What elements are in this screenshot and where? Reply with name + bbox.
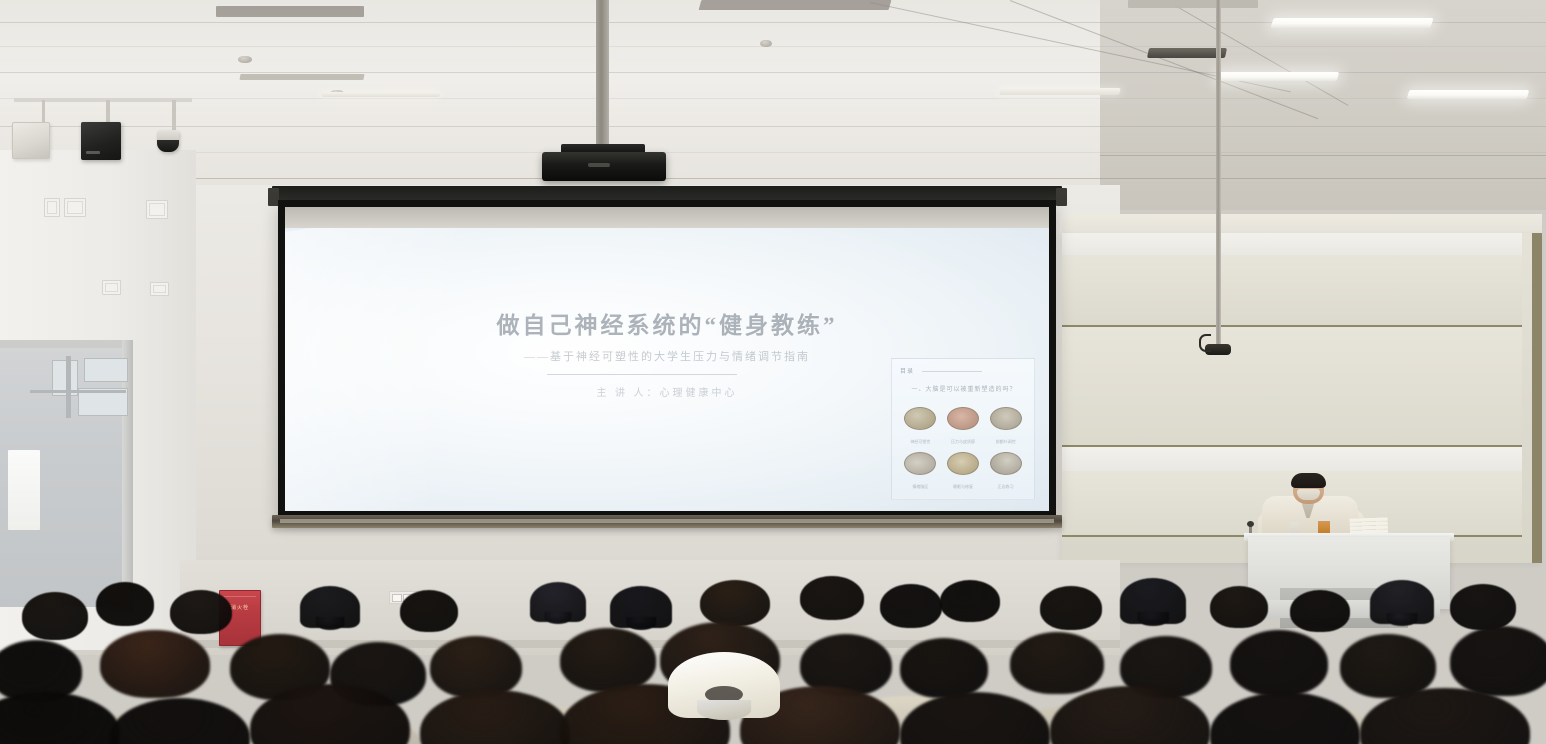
figure-caption: 情绪脑区 [900, 484, 941, 490]
ceiling-air-vent [699, 0, 892, 10]
window-mullion [30, 390, 126, 393]
audience-member-head [1040, 586, 1102, 630]
figure-cell: 神经可塑性 [900, 403, 941, 446]
slide-figure-panel: 目录 一、大脑是可以被重新塑造的吗？ 神经可塑性 压力与皮质醇 前额叶调控 [891, 358, 1035, 500]
audience-member-head [1450, 626, 1546, 696]
slide-panel-heading: 目录 [900, 366, 914, 375]
figure-cell: 前额叶调控 [985, 403, 1026, 446]
ceiling-light [1217, 72, 1340, 81]
audience-member-head [700, 580, 770, 626]
audience-member-head [800, 576, 864, 620]
ceiling-grid-line [1100, 155, 1546, 156]
speaker-mount-arm [106, 100, 110, 124]
brain-figure-icon [990, 407, 1022, 430]
brain-figure-icon [904, 452, 936, 475]
wall-switch-plate [44, 198, 60, 217]
audience-member-cap [530, 582, 586, 622]
figure-cell: 压力与皮质醇 [943, 403, 984, 446]
audience-member-head [22, 592, 88, 640]
audience-member-head [170, 590, 232, 634]
camera-mount-arm [172, 100, 176, 132]
window-mullion [66, 356, 71, 418]
lecture-hall-photo: 做自己神经系统的“健身教练” ——基于神经可塑性的大学生压力与情绪调节指南 主 … [0, 0, 1546, 744]
projection-screen-top-band [285, 207, 1049, 229]
audience-member-head [100, 630, 210, 698]
brain-figure-icon [990, 452, 1022, 475]
audience-seating [0, 556, 1546, 744]
ceiling-slot-vent [1128, 0, 1258, 8]
screen-bracket [1056, 188, 1067, 206]
figure-caption: 睡眠与修复 [943, 484, 984, 490]
audience-member-head [900, 638, 988, 698]
audience-member-head [940, 580, 1000, 622]
smoke-detector-icon [760, 40, 772, 47]
white-baseball-cap [668, 652, 780, 718]
smoke-detector-icon [238, 56, 252, 63]
ceiling-light [1270, 18, 1433, 28]
brain-figure-icon [947, 407, 979, 430]
audience-member-head [420, 690, 570, 744]
audience-member-cap [300, 586, 360, 628]
brain-figure-icon [947, 452, 979, 475]
ceiling-wall-junction [0, 178, 1546, 179]
slide-title: 做自己神经系统的“健身教练” [285, 306, 1049, 340]
projection-screen-surface[interactable]: 做自己神经系统的“健身教练” ——基于神经可塑性的大学生压力与情绪调节指南 主 … [285, 228, 1049, 511]
ceiling-plank-seam [0, 46, 1546, 47]
ceiling-slot-vent [239, 74, 364, 80]
ceiling-plank-seam [0, 98, 1546, 99]
audience-member-head [1210, 586, 1268, 628]
wall-socket-plate [150, 282, 169, 296]
figure-cell: 正念练习 [985, 448, 1026, 491]
audience-member-cap [610, 586, 672, 628]
panel-wall-gap [1062, 447, 1522, 471]
audience-member-head [430, 636, 522, 698]
wall-light-reflection [8, 450, 40, 530]
speaker-mount-arm [42, 100, 45, 124]
audience-member-cap [1370, 580, 1434, 624]
ceiling-light [322, 92, 441, 97]
wall-speaker-black [81, 122, 121, 160]
projector-mount-pole [596, 0, 609, 150]
audience-member-cap [1120, 578, 1186, 624]
ceiling-plank-seam [0, 152, 1546, 153]
panel-wall-band [1062, 327, 1522, 447]
wall-socket-plate [102, 280, 121, 295]
cap-adjuster-hole [705, 686, 743, 703]
audience-member-head [96, 582, 154, 626]
audience-member-head [110, 698, 250, 744]
lecturer-hair [1291, 473, 1326, 488]
panel-wall-gap [1062, 233, 1522, 255]
audience-member-head [1450, 584, 1516, 630]
screen-glare [285, 228, 567, 511]
face-mask-icon [1297, 489, 1320, 500]
slide-divider [547, 374, 737, 375]
slide-panel-rule [922, 371, 982, 372]
audience-member-head [0, 692, 120, 744]
drink-cup-lid [1317, 517, 1331, 521]
panel-wall-band [1062, 255, 1522, 327]
projection-screen-weight-bar [272, 515, 1062, 528]
figure-caption: 压力与皮质醇 [943, 439, 984, 445]
wall-switch-plate [64, 198, 86, 217]
security-camera-icon [157, 130, 179, 152]
transom-window-pane [84, 358, 128, 382]
audience-member-head [1010, 632, 1104, 694]
audience-member-head [1290, 590, 1350, 632]
ceiling-air-vent [216, 6, 364, 17]
figure-caption: 神经可塑性 [900, 439, 941, 445]
figure-cell: 情绪脑区 [900, 448, 941, 491]
brain-figure-icon [904, 407, 936, 430]
ceiling-suspension-pole [1216, 0, 1221, 352]
cap-strap [709, 708, 738, 714]
audience-member-head [1210, 692, 1360, 744]
audience-member-head [1340, 634, 1436, 698]
speaker-mount-rail [14, 98, 192, 102]
wall-switch-plate [146, 200, 168, 219]
figure-caption: 前额叶调控 [985, 439, 1026, 445]
audience-member-head [560, 628, 656, 692]
wall-speaker-white [12, 122, 50, 159]
audience-member-head [880, 584, 942, 628]
figure-caption: 正念练习 [985, 484, 1026, 490]
door-header [0, 340, 133, 348]
figure-cell: 睡眠与修复 [943, 448, 984, 491]
audience-member-head [1230, 630, 1328, 696]
pole-mounted-camera-icon [1205, 344, 1231, 355]
ceiling-plank-seam [0, 126, 1546, 127]
audience-member-head [400, 590, 458, 632]
ceiling-light [999, 88, 1121, 95]
ceiling-projector [542, 152, 666, 181]
ceiling-light [1407, 90, 1530, 99]
slide-panel-subheading: 一、大脑是可以被重新塑造的吗？ [904, 384, 1024, 393]
slide-panel-figure-grid: 神经可塑性 压力与皮质醇 前额叶调控 情绪脑区 睡眠与修复 [900, 403, 1026, 491]
